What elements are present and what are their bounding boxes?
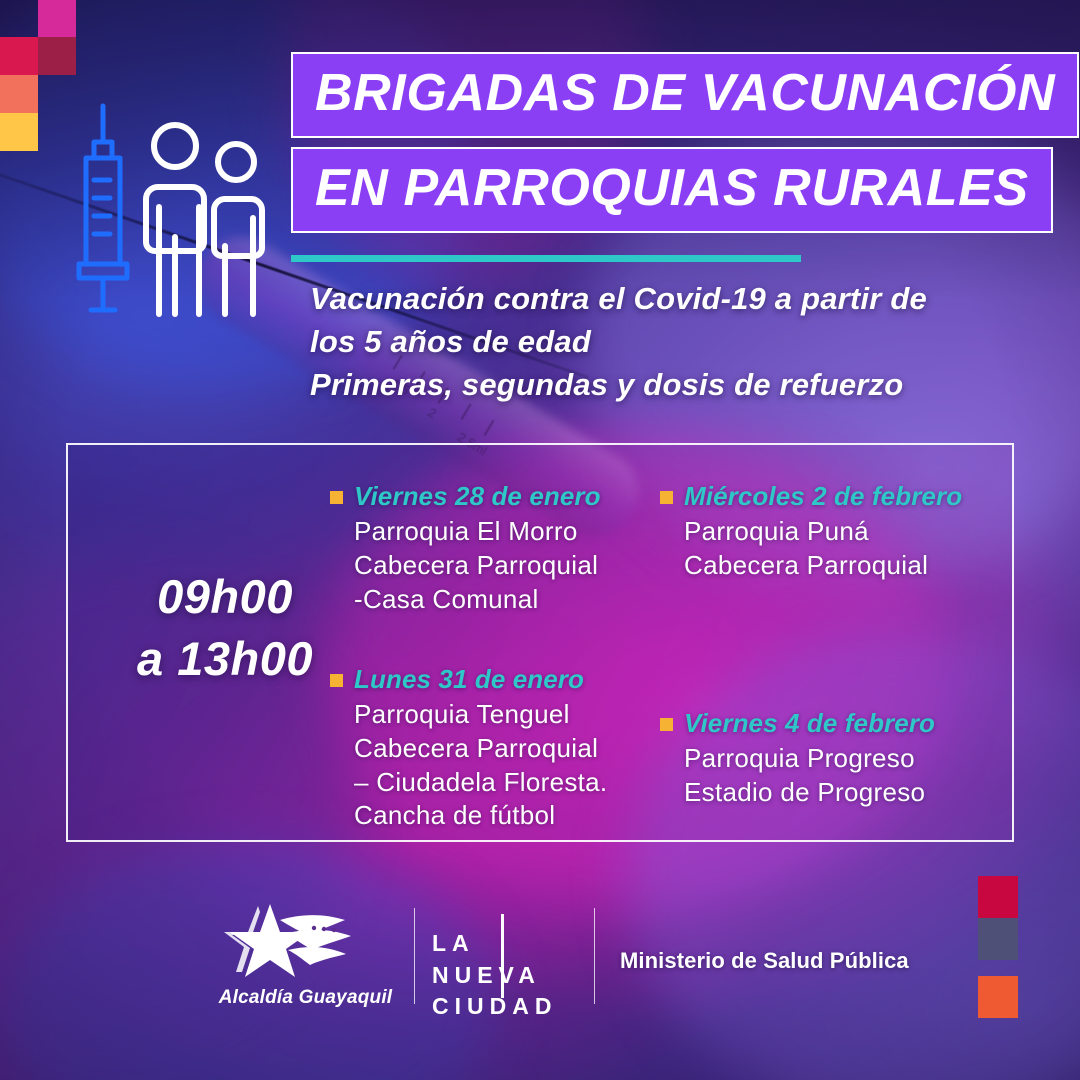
two-people-icon [146,125,262,314]
event-date: Lunes 31 de enero [354,663,584,696]
brand-line-2: CIUDAD [432,991,582,1023]
poster-subtitle: Vacunación contra el Covid-19 a partir d… [310,278,1010,406]
schedule-event: Miércoles 2 de febrero Parroquia Puná Ca… [660,480,990,583]
time-start: 09h00 [110,566,340,628]
time-end: a 13h00 [110,628,340,690]
event-location-line: Parroquia Tenguel [354,698,660,732]
decor-square-magenta [38,0,76,38]
schedule-column-left: Viernes 28 de enero Parroquia El Morro C… [330,480,660,867]
alcaldia-label: Alcaldía Guayaquil [218,987,393,1009]
title-line-2: EN PARROQUIAS RURALES [291,147,1053,233]
event-date: Viernes 4 de febrero [684,707,935,740]
bullet-square-icon [660,718,673,731]
footer: Alcaldía Guayaquil LA NUEVA CIUDAD Minis… [0,900,1080,1030]
event-location: Parroquia Puná Cabecera Parroquial [684,515,990,583]
subtitle-line-1: Vacunación contra el Covid-19 a partir d… [310,278,1010,321]
bullet-square-icon [330,491,343,504]
event-location-line: Cabecera Parroquial [354,732,660,766]
la-nueva-ciudad-logo: LA NUEVA CIUDAD [432,928,582,1023]
schedule-column-right: Miércoles 2 de febrero Parroquia Puná Ca… [660,480,990,844]
syringe-icon [79,106,127,310]
subtitle-line-3: Primeras, segundas y dosis de refuerzo [310,364,1010,407]
footer-divider-2 [594,908,595,1004]
event-date: Viernes 28 de enero [354,480,601,513]
schedule-event: Viernes 28 de enero Parroquia El Morro C… [330,480,660,617]
teal-divider-rule [291,255,801,262]
event-date: Miércoles 2 de febrero [684,480,962,513]
poster-title: BRIGADAS DE VACUNACIÓN EN PARROQUIAS RUR… [291,52,1019,242]
title-line-1: BRIGADAS DE VACUNACIÓN [291,52,1079,138]
brand-vertical-bar [501,914,504,998]
schedule-event: Viernes 4 de febrero Parroquia Progreso … [660,707,990,810]
alcaldia-guayaquil-logo: Alcaldía Guayaquil [218,900,393,1009]
star-logo-icon [218,900,393,978]
event-location: Parroquia El Morro Cabecera Parroquial -… [354,515,660,616]
event-location: Parroquia Tenguel Cabecera Parroquial – … [354,698,660,833]
event-location-line: Estadio de Progreso [684,776,990,810]
bullet-square-icon [330,674,343,687]
subtitle-line-2: los 5 años de edad [310,321,1010,364]
footer-divider-1 [414,908,415,1004]
brand-line-1: LA NUEVA [432,928,582,991]
icon-cluster [62,100,292,320]
event-location-line: Parroquia Progreso [684,742,990,776]
decor-square-coral [0,75,38,113]
decor-square-maroon [38,37,76,75]
event-location-line: Parroquia El Morro [354,515,660,549]
decor-square-yellow [0,113,38,151]
event-location-line: Cabecera Parroquial [354,549,660,583]
event-location-line: -Casa Comunal [354,583,660,617]
decor-square-crimson [0,37,38,75]
event-location-line: – Ciudadela Floresta. [354,766,660,800]
vaccination-campaign-poster: 1.5 2 2.5ml [0,0,1080,1080]
event-location: Parroquia Progreso Estadio de Progreso [684,742,990,810]
event-location-line: Parroquia Puná [684,515,990,549]
event-location-line: Cabecera Parroquial [684,549,990,583]
schedule-time-range: 09h00 a 13h00 [110,566,340,690]
schedule-event: Lunes 31 de enero Parroquia Tenguel Cabe… [330,663,660,833]
event-location-line: Cancha de fútbol [354,799,660,833]
ministerio-salud-publica-label: Ministerio de Salud Pública [620,948,909,974]
bullet-square-icon [660,491,673,504]
